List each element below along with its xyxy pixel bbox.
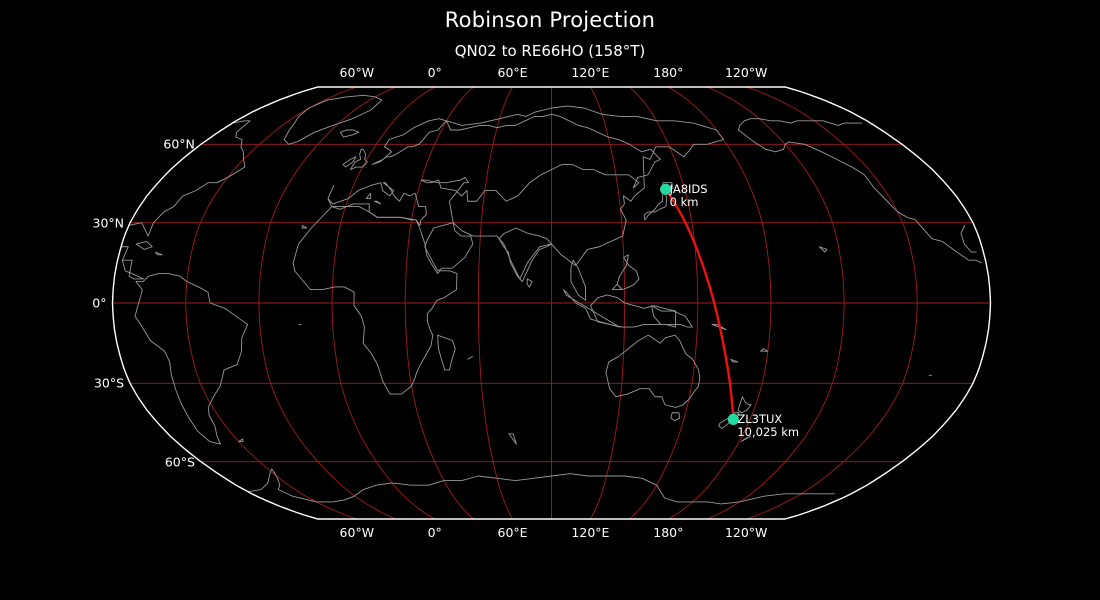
longitude-tick-bottom: 120°E — [571, 525, 609, 540]
coastline-path — [738, 397, 751, 413]
map-figure: Robinson Projection QN02 to RE66HO (158°… — [0, 0, 1100, 600]
coastline-path — [239, 439, 243, 442]
world-map — [0, 0, 1100, 600]
coastline-path — [343, 157, 356, 167]
coastline-path — [468, 357, 473, 360]
latitude-tick: 60°N — [163, 137, 195, 152]
longitude-tick-top: 60°E — [498, 65, 528, 80]
coastline-path — [509, 434, 516, 444]
coastline-path — [375, 201, 381, 204]
longitude-tick-bottom: 60°W — [340, 525, 375, 540]
coastline-path — [425, 223, 473, 271]
station-label: JA8IDS0 km — [670, 183, 708, 209]
coastline-path — [612, 284, 622, 289]
coastline-path — [651, 306, 692, 327]
latitude-tick: 0° — [92, 296, 106, 311]
coastline-path — [121, 247, 128, 260]
coastline-path — [527, 279, 532, 287]
coastline-path — [606, 335, 700, 407]
coastline-path — [284, 95, 382, 144]
longitude-tick-bottom: 120°W — [725, 525, 767, 540]
coastline-path — [438, 335, 456, 370]
station-label: ZL3TUX10,025 km — [737, 413, 799, 439]
coastline-path — [731, 359, 738, 362]
coastline-path — [738, 119, 861, 130]
station-distance: 0 km — [670, 196, 708, 209]
coastline-path — [350, 149, 367, 169]
coastline-path — [156, 252, 163, 255]
longitude-tick-top: 60°W — [340, 65, 375, 80]
coastline-path — [293, 207, 457, 394]
latitude-tick: 30°N — [93, 215, 125, 230]
longitude-tick-top: 180° — [653, 65, 683, 80]
coastline-path — [692, 494, 834, 504]
coastline-path — [761, 349, 768, 352]
coastline-path — [499, 228, 551, 282]
coastline-path — [340, 130, 359, 137]
longitude-tick-bottom: 60°E — [498, 525, 528, 540]
coastline-path — [372, 119, 446, 165]
latitude-tick: 60°S — [165, 454, 195, 469]
coastline-path — [961, 225, 976, 252]
coastline-path — [366, 193, 371, 198]
longitude-tick-bottom: 0° — [428, 525, 442, 540]
station-distance: 10,025 km — [737, 426, 799, 439]
great-circle-path — [666, 189, 734, 419]
coastline-path — [617, 255, 639, 290]
coastline-path — [819, 247, 827, 252]
latitude-tick: 30°S — [94, 376, 124, 391]
coastline-path — [248, 469, 692, 502]
coastline-path — [135, 274, 248, 445]
longitude-tick-top: 120°W — [725, 65, 767, 80]
longitude-tick-bottom: 180° — [653, 525, 683, 540]
coastline-path — [302, 225, 307, 228]
longitude-tick-top: 0° — [428, 65, 442, 80]
graticule — [113, 87, 991, 519]
coastline-path — [738, 130, 981, 263]
coastline-path — [122, 260, 143, 279]
coastline-path — [671, 413, 680, 421]
coastline-path — [136, 241, 152, 249]
longitude-tick-top: 120°E — [571, 65, 609, 80]
coastline-path — [571, 260, 586, 300]
